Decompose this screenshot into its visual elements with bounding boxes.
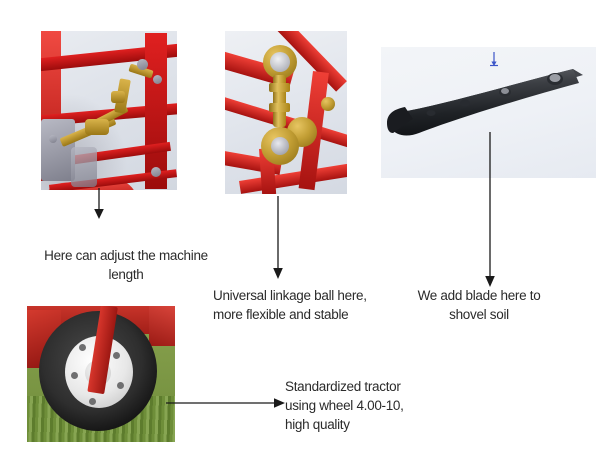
arrow-right-tractor-wheel [166, 392, 286, 414]
blade-shape-icon [387, 65, 585, 139]
caption-standardized-wheel: Standardized tractor using wheel 4.00-10… [285, 377, 455, 434]
photo-tractor-wheel [27, 306, 175, 442]
caption-adjust-length: Here can adjust the machine length [22, 246, 230, 284]
caption-blade-shovel: We add blade here to shovel soil [408, 286, 550, 324]
arrow-down-blade [479, 132, 501, 288]
arrow-down-universal-ball [267, 196, 289, 280]
photo-universal-ball [225, 31, 347, 194]
caption-universal-linkage: Universal linkage ball here, more flexib… [213, 286, 403, 324]
arrow-down-adjust-linkage [88, 188, 110, 220]
cad-axis-marker-icon [488, 51, 500, 67]
annotated-product-feature-diagram: Here can adjust the machine length Unive… [0, 0, 616, 461]
photo-adjust-linkage [41, 31, 177, 190]
